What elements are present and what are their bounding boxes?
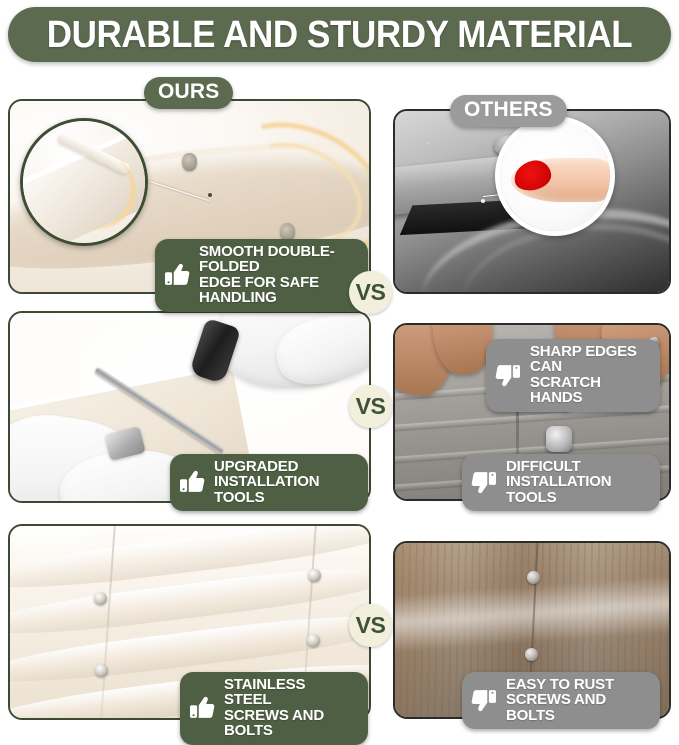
vs-label: VS — [356, 279, 386, 306]
column-badge-others: OTHERS — [450, 95, 567, 127]
ours-caption-text-row-3: STAINLESS STEEL SCREWS AND BOLTS — [224, 677, 356, 739]
others-caption-row-2: DIFFICULT INSTALLATION TOOLS — [462, 454, 660, 511]
thumbs-up-icon — [162, 260, 192, 290]
others-caption-text-row-3: EASY TO RUST SCREWS AND BOLTS — [506, 677, 648, 723]
column-badge-others-label: OTHERS — [464, 98, 553, 122]
thumbs-down-icon — [469, 467, 499, 497]
ours-caption-row-1: SMOOTH DOUBLE-FOLDED EDGE FOR SAFE HANDL… — [155, 239, 368, 312]
vs-label: VS — [356, 612, 386, 639]
thumbs-down-icon — [493, 360, 523, 390]
ours-caption-text-row-1: SMOOTH DOUBLE-FOLDED EDGE FOR SAFE HANDL… — [199, 244, 356, 306]
vs-badge-row-2: VS — [349, 385, 392, 428]
vs-badge-row-1: VS — [349, 271, 392, 314]
others-panel-row-1 — [393, 109, 671, 294]
others-caption-row-1: SHARP EDGES CAN SCRATCH HANDS — [486, 339, 660, 412]
vs-label: VS — [356, 393, 386, 420]
comparison-row-3: VS STAINLESS STEEL SCREWS AND BOLTS EASY… — [0, 524, 679, 724]
vs-badge-row-3: VS — [349, 604, 392, 647]
thumbs-up-icon — [187, 693, 217, 723]
others-caption-text-row-1: SHARP EDGES CAN SCRATCH HANDS — [530, 344, 648, 406]
ours-caption-text-row-2: UPGRADED INSTALLATION TOOLS — [214, 459, 356, 505]
thumbs-down-icon — [469, 685, 499, 715]
column-badge-ours: OURS — [144, 77, 233, 109]
thumbs-up-icon — [177, 467, 207, 497]
ours-caption-row-2: UPGRADED INSTALLATION TOOLS — [170, 454, 368, 511]
ours-caption-row-3: STAINLESS STEEL SCREWS AND BOLTS — [180, 672, 368, 745]
page-title: DURABLE AND STURDY MATERIAL — [47, 13, 632, 56]
others-caption-row-3: EASY TO RUST SCREWS AND BOLTS — [462, 672, 660, 729]
header-banner: DURABLE AND STURDY MATERIAL — [8, 7, 671, 62]
others-caption-text-row-2: DIFFICULT INSTALLATION TOOLS — [506, 459, 648, 505]
magnifier-inset-cut-finger — [495, 116, 615, 236]
magnifier-inset-smooth-edge — [20, 118, 148, 246]
comparison-row-1: VS SMOOTH DOUBLE-FOLDED EDGE FOR SAFE HA… — [0, 99, 679, 295]
column-badge-ours-label: OURS — [158, 80, 219, 104]
